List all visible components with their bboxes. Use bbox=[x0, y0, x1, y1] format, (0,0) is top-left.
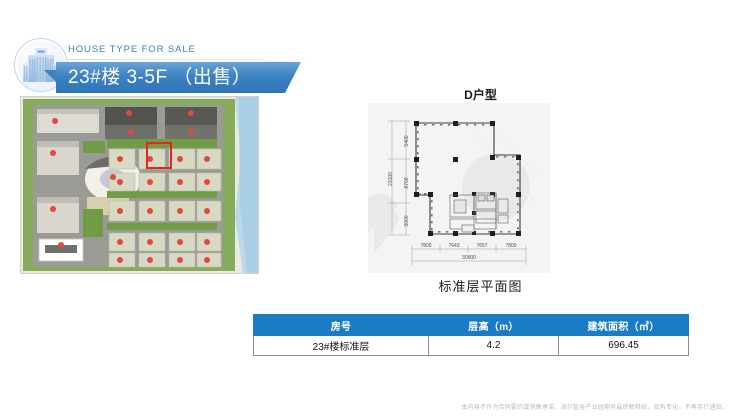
svg-text:8700: 8700 bbox=[404, 177, 410, 188]
table-cell-building-area: 696.45 bbox=[559, 336, 689, 356]
floorplan-image: 5400 8700 9000 23100 bbox=[368, 103, 550, 273]
svg-text:7657: 7657 bbox=[476, 243, 487, 249]
table-header-row: 房号 层高（m） 建筑面积（㎡） bbox=[254, 315, 689, 336]
site-plan-image bbox=[20, 96, 259, 274]
floorplan-caption: 标准层平面图 bbox=[368, 276, 593, 295]
disclaimer-text: 本内容不作为合同要约或销售承诺，海尔智谷产业园期有最终解释权，如有变化，不再另行… bbox=[461, 402, 728, 411]
table-header-cell: 建筑面积（㎡） bbox=[559, 315, 689, 336]
header-divider bbox=[66, 59, 318, 60]
floorplan-title: D户型 bbox=[368, 86, 593, 103]
header-eyebrow: HOUSE TYPE FOR SALE bbox=[68, 44, 196, 55]
highlighted-building-marker bbox=[146, 142, 172, 169]
slide-page: HOUSE TYPE FOR SALE 23#楼 3-5F （出售） bbox=[0, 0, 740, 417]
page-title: 23#楼 3-5F （出售） bbox=[68, 65, 251, 90]
svg-text:30900: 30900 bbox=[462, 255, 476, 261]
unit-info-table: 房号 层高（m） 建筑面积（㎡） 23#楼标准层 4.2 696.45 bbox=[253, 314, 689, 356]
svg-text:5400: 5400 bbox=[404, 135, 410, 146]
table-row: 23#楼标准层 4.2 696.45 bbox=[254, 336, 689, 356]
table-header-cell: 层高（m） bbox=[429, 315, 559, 336]
svg-text:9000: 9000 bbox=[404, 215, 410, 226]
svg-text:23100: 23100 bbox=[388, 172, 394, 186]
page-header: HOUSE TYPE FOR SALE 23#楼 3-5F （出售） bbox=[0, 18, 320, 82]
table-cell-floor-height: 4.2 bbox=[429, 336, 559, 356]
svg-text:7800: 7800 bbox=[505, 243, 516, 249]
svg-text:7800: 7800 bbox=[420, 243, 431, 249]
svg-text:7643: 7643 bbox=[448, 243, 459, 249]
table-cell-room-no: 23#楼标准层 bbox=[254, 336, 429, 356]
table-header-cell: 房号 bbox=[254, 315, 429, 336]
